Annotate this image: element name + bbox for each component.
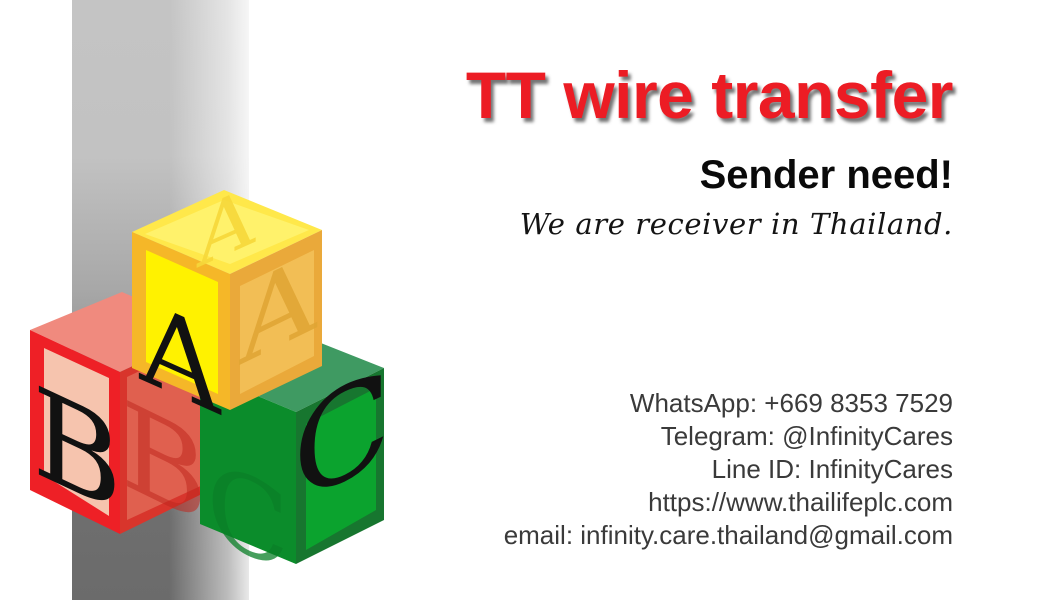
contact-line-email[interactable]: email: infinity.care.thailand@gmail.com bbox=[110, 519, 953, 552]
tagline: We are receiver in Thailand. bbox=[110, 207, 953, 242]
subtitle: Sender need! bbox=[110, 155, 953, 195]
contact-line-telegram[interactable]: Telegram: @InfinityCares bbox=[110, 420, 953, 453]
contact-block: WhatsApp: +669 8353 7529 Telegram: @Infi… bbox=[110, 387, 953, 552]
contact-line-website[interactable]: https://www.thailifeplc.com bbox=[110, 486, 953, 519]
page-title: TT wire transfer bbox=[110, 62, 953, 128]
contact-line-whatsapp[interactable]: WhatsApp: +669 8353 7529 bbox=[110, 387, 953, 420]
contact-line-lineid[interactable]: Line ID: InfinityCares bbox=[110, 453, 953, 486]
poster-canvas: B B C C bbox=[0, 0, 1063, 600]
